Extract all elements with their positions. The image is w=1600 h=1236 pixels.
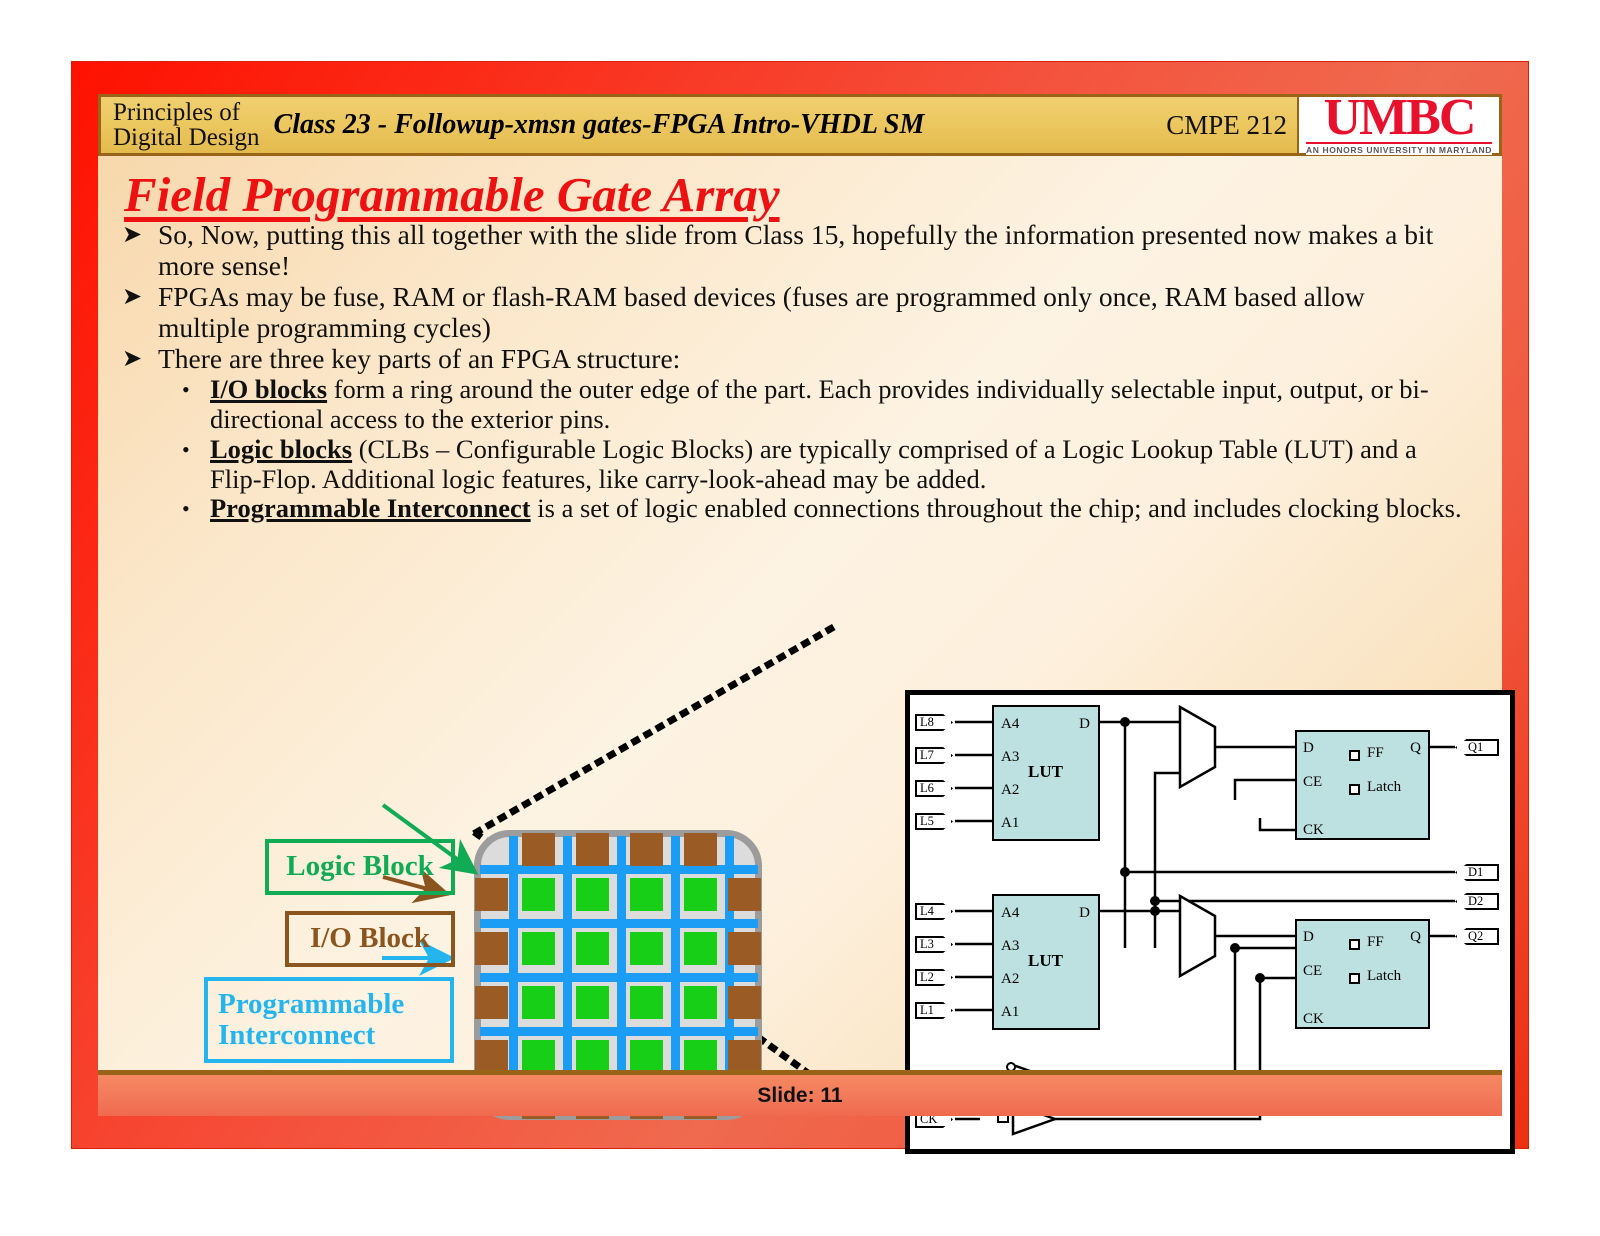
mux-1 — [1180, 707, 1215, 787]
bullet-text: So, Now, putting this all together with … — [158, 220, 1462, 282]
slide-number: Slide: 11 — [757, 1084, 842, 1108]
bullet-item: ➤ There are three key parts of an FPGA s… — [122, 344, 1462, 375]
io-block — [475, 986, 508, 1019]
sub-bullet-term: Programmable Interconnect — [210, 493, 531, 523]
lut2-name: LUT — [1028, 951, 1063, 971]
callout-interconnect-label-line1: Programmable — [218, 989, 404, 1020]
ff2-input-ce: CE — [1303, 963, 1322, 980]
slide-red-frame: Principles of Digital Design Class 23 - … — [72, 62, 1528, 1148]
ff1-mode-latch-checkbox[interactable] — [1349, 784, 1360, 795]
sub-bullet-body: is a set of logic enabled connections th… — [531, 493, 1462, 523]
logic-block — [684, 1040, 717, 1073]
flipflop-block-1: D CE CK Q FF Latch — [1295, 730, 1430, 840]
junction-dot — [1150, 896, 1160, 906]
logic-block — [576, 932, 609, 965]
logic-block — [576, 986, 609, 1019]
flipflop-block-2: D CE CK Q FF Latch — [1295, 919, 1430, 1029]
pin-label: L2 — [920, 970, 934, 985]
pin-label: Q2 — [1468, 929, 1483, 944]
lut1-output-d: D — [1079, 716, 1090, 733]
pin-label: L4 — [920, 904, 934, 919]
umbc-tagline: AN HONORS UNIVERSITY IN MARYLAND — [1306, 142, 1492, 155]
ff2-mode-latch-checkbox[interactable] — [1349, 973, 1360, 984]
sub-bullet-text: Logic blocks (CLBs – Configurable Logic … — [210, 435, 1462, 495]
sub-bullet-item: • Logic blocks (CLBs – Configurable Logi… — [122, 435, 1462, 495]
io-block — [728, 932, 761, 965]
slide-header: Principles of Digital Design Class 23 - … — [98, 94, 1502, 156]
sub-bullet-body: (CLBs – Configurable Logic Blocks) are t… — [210, 434, 1417, 494]
course-name-line2: Digital Design — [113, 125, 260, 150]
course-name: Principles of Digital Design — [101, 97, 266, 153]
junction-dot — [1230, 943, 1240, 953]
bullet-dot-icon: • — [182, 494, 210, 522]
bullet-arrow-icon: ➤ — [122, 344, 158, 373]
io-block — [522, 833, 555, 866]
course-code: CMPE 212 — [1156, 97, 1297, 153]
lut2-input-a3: A3 — [1001, 938, 1019, 955]
pin-label: L7 — [920, 748, 934, 763]
io-block — [475, 1040, 508, 1073]
bullet-arrow-icon: ➤ — [122, 282, 158, 311]
logic-block — [522, 986, 555, 1019]
logic-block — [630, 1040, 663, 1073]
lut1-input-a4: A4 — [1001, 716, 1019, 733]
pin-label: L5 — [920, 814, 934, 829]
junction-dot — [1255, 973, 1265, 983]
bullet-dot-icon: • — [182, 375, 210, 403]
lut2-output-d: D — [1079, 905, 1090, 922]
ff2-mode-ff-label: FF — [1367, 934, 1384, 951]
interconnect-hline — [480, 919, 758, 928]
logic-block — [522, 1040, 555, 1073]
ff1-input-ck: CK — [1303, 822, 1324, 839]
io-block — [576, 833, 609, 866]
junction-dot — [1120, 717, 1130, 727]
logic-block — [630, 878, 663, 911]
sub-bullet-item: • I/O blocks form a ring around the oute… — [122, 375, 1462, 435]
io-block — [684, 833, 717, 866]
lut1-input-a1: A1 — [1001, 815, 1019, 832]
interconnect-hline — [480, 973, 758, 982]
sub-bullet-text: Programmable Interconnect is a set of lo… — [210, 494, 1462, 524]
lut2-input-a1: A1 — [1001, 1004, 1019, 1021]
pin-label: D1 — [1468, 865, 1483, 880]
sub-bullet-term: I/O blocks — [210, 374, 327, 404]
junction-dot — [1120, 867, 1130, 877]
pin-label: L3 — [920, 937, 934, 952]
bullet-text: There are three key parts of an FPGA str… — [158, 344, 1462, 375]
ff1-mode-latch-label: Latch — [1367, 779, 1401, 796]
slide-body: ➤ So, Now, putting this all together wit… — [122, 220, 1462, 524]
sub-bullet-term: Logic blocks — [210, 434, 352, 464]
ff2-mode-ff-checkbox[interactable] — [1349, 939, 1360, 950]
bullet-item: ➤ FPGAs may be fuse, RAM or flash-RAM ba… — [122, 282, 1462, 344]
course-name-line1: Principles of — [113, 100, 260, 125]
ff2-mode-latch-label: Latch — [1367, 968, 1401, 985]
logic-block — [576, 1040, 609, 1073]
umbc-wordmark: UMBC — [1324, 95, 1475, 141]
ff1-input-d: D — [1303, 740, 1314, 757]
ff2-input-ck: CK — [1303, 1011, 1324, 1028]
page-title: Field Programmable Gate Array — [124, 166, 780, 223]
callout-interconnect-label-line2: Interconnect — [218, 1020, 375, 1051]
pin-label: L6 — [920, 781, 934, 796]
pin-label: L1 — [920, 1003, 934, 1018]
lecture-title: Class 23 - Followup-xmsn gates-FPGA Intr… — [266, 97, 1157, 153]
bullet-item: ➤ So, Now, putting this all together wit… — [122, 220, 1462, 282]
interconnect-hline — [480, 1027, 758, 1036]
logic-block — [684, 878, 717, 911]
ff1-mode-ff-label: FF — [1367, 745, 1384, 762]
callout-logic-block: Logic Block — [265, 839, 455, 895]
io-block — [728, 1040, 761, 1073]
lut-block-1: A4 A3 A2 A1 D LUT — [992, 705, 1100, 841]
pin-label: L8 — [920, 715, 934, 730]
junction-dot — [1150, 906, 1160, 916]
io-block — [475, 932, 508, 965]
lut1-input-a3: A3 — [1001, 749, 1019, 766]
lut-block-2: A4 A3 A2 A1 D LUT — [992, 894, 1100, 1030]
sub-bullet-body: form a ring around the outer edge of the… — [210, 374, 1429, 434]
bullet-dot-icon: • — [182, 435, 210, 463]
io-block — [630, 833, 663, 866]
io-block — [728, 986, 761, 1019]
ff2-output-q: Q — [1410, 929, 1421, 946]
umbc-logo: UMBC AN HONORS UNIVERSITY IN MARYLAND — [1297, 97, 1499, 153]
lut2-input-a4: A4 — [1001, 905, 1019, 922]
bullet-text: FPGAs may be fuse, RAM or flash-RAM base… — [158, 282, 1462, 344]
lut1-input-a2: A2 — [1001, 782, 1019, 799]
callout-logic-block-label: Logic Block — [286, 851, 433, 882]
callout-io-block-label: I/O Block — [310, 923, 430, 954]
bullet-arrow-icon: ➤ — [122, 220, 158, 249]
io-block — [475, 878, 508, 911]
logic-block — [630, 932, 663, 965]
logic-block — [522, 878, 555, 911]
mux-2 — [1180, 896, 1215, 976]
logic-block — [522, 932, 555, 965]
interconnect-hline — [480, 865, 758, 874]
logic-block — [684, 932, 717, 965]
callout-programmable-interconnect: Programmable Interconnect — [204, 977, 454, 1063]
io-block — [728, 878, 761, 911]
ff2-input-d: D — [1303, 929, 1314, 946]
pin-label: Q1 — [1468, 740, 1483, 755]
slide-footer: Slide: 11 — [98, 1070, 1502, 1116]
logic-block — [630, 986, 663, 1019]
sub-bullet-item: • Programmable Interconnect is a set of … — [122, 494, 1462, 524]
ff1-mode-ff-checkbox[interactable] — [1349, 750, 1360, 761]
pin-label: D2 — [1468, 894, 1483, 909]
logic-block — [684, 986, 717, 1019]
sub-bullet-text: I/O blocks form a ring around the outer … — [210, 375, 1462, 435]
ff1-input-ce: CE — [1303, 774, 1322, 791]
ff1-output-q: Q — [1410, 740, 1421, 757]
lut1-name: LUT — [1028, 762, 1063, 782]
lut2-input-a2: A2 — [1001, 971, 1019, 988]
callout-io-block: I/O Block — [285, 911, 455, 967]
logic-block — [576, 878, 609, 911]
